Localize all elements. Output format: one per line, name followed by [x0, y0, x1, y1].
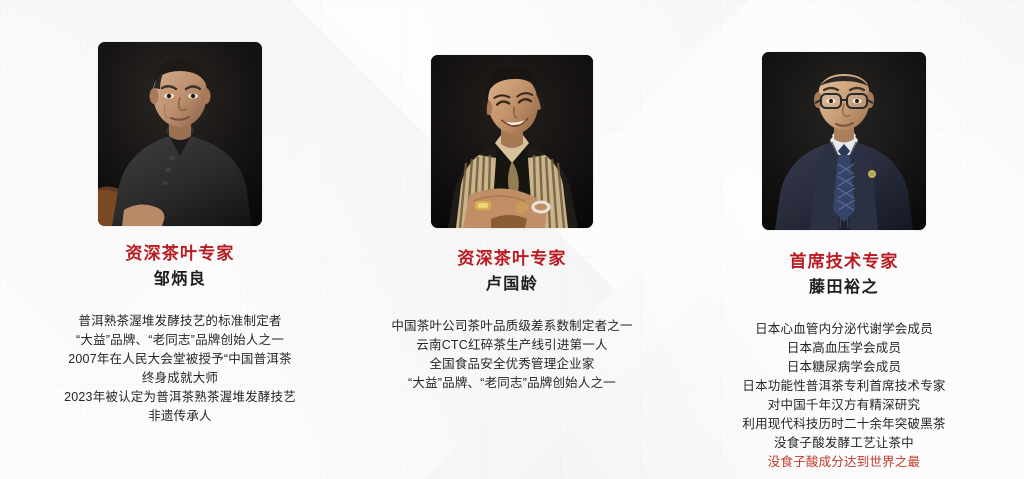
expert-card: 资深茶叶专家 卢国龄 中国茶叶公司茶叶品质级差系数制定者之一 云南CTC红碎茶生… [346, 0, 678, 393]
expert-bio: 普洱熟茶渥堆发酵技艺的标准制定者 “大益”品牌、“老同志”品牌创始人之一 200… [30, 312, 330, 426]
expert-portrait-photo [98, 42, 262, 226]
bio-line: 云南CTC红碎茶生产线引进第一人 [362, 336, 662, 355]
bio-line: “大益”品牌、“老同志”品牌创始人之一 [30, 331, 330, 350]
bio-line: 全国食品安全优秀管理企业家 [362, 355, 662, 374]
bio-line: 日本糖尿病学会成员 [694, 358, 994, 377]
bio-line: 对中国千年汉方有精深研究 [694, 396, 994, 415]
bio-line: “大益”品牌、“老同志”品牌创始人之一 [362, 374, 662, 393]
expert-portrait-photo [762, 52, 926, 230]
expert-bio: 日本心血管内分泌代谢学会成员 日本高血压学会成员 日本糖尿病学会成员 日本功能性… [694, 320, 994, 472]
expert-card: 资深茶叶专家 邹炳良 普洱熟茶渥堆发酵技艺的标准制定者 “大益”品牌、“老同志”… [14, 0, 346, 426]
bio-line: 日本功能性普洱茶专利首席技术专家 [694, 377, 994, 396]
expert-name: 邹炳良 [154, 270, 207, 290]
expert-role-title: 资深茶叶专家 [457, 249, 566, 269]
expert-bio: 中国茶叶公司茶叶品质级差系数制定者之一 云南CTC红碎茶生产线引进第一人 全国食… [362, 317, 662, 393]
bio-line-highlight: 没食子酸成分达到世界之最 [694, 453, 994, 472]
bio-line: 非遗传承人 [30, 407, 330, 426]
expert-name: 卢国龄 [486, 275, 539, 295]
bio-line: 普洱熟茶渥堆发酵技艺的标准制定者 [30, 312, 330, 331]
expert-role-title: 首席技术专家 [789, 252, 898, 272]
expert-columns: 资深茶叶专家 邹炳良 普洱熟茶渥堆发酵技艺的标准制定者 “大益”品牌、“老同志”… [0, 0, 1024, 479]
bio-line: 利用现代科技历时二十余年突破黑茶 [694, 415, 994, 434]
bio-line: 日本心血管内分泌代谢学会成员 [694, 320, 994, 339]
bio-line: 2007年在人民大会堂被授予“中国普洱茶 [30, 350, 330, 369]
bio-line: 没食子酸发酵工艺让茶中 [694, 434, 994, 453]
expert-role-title: 资深茶叶专家 [125, 244, 234, 264]
expert-name: 藤田裕之 [809, 278, 879, 298]
bio-line: 2023年被认定为普洱茶熟茶渥堆发酵技艺 [30, 388, 330, 407]
bio-line: 日本高血压学会成员 [694, 339, 994, 358]
expert-team-page: 资深茶叶专家 邹炳良 普洱熟茶渥堆发酵技艺的标准制定者 “大益”品牌、“老同志”… [0, 0, 1024, 479]
expert-portrait-photo [431, 55, 593, 228]
bio-line: 终身成就大师 [30, 369, 330, 388]
expert-card: 首席技术专家 藤田裕之 日本心血管内分泌代谢学会成员 日本高血压学会成员 日本糖… [678, 0, 1010, 472]
bio-line: 中国茶叶公司茶叶品质级差系数制定者之一 [362, 317, 662, 336]
